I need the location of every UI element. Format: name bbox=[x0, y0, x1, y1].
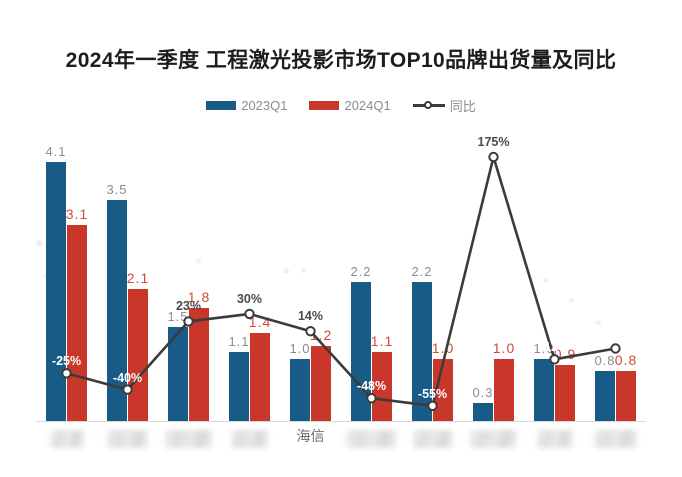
yoy-value-label: 30% bbox=[215, 292, 285, 306]
yoy-data-point[interactable] bbox=[550, 355, 558, 363]
chart-legend: 2023Q1 2024Q1 同比 bbox=[0, 96, 682, 115]
legend-item-yoy[interactable]: 同比 bbox=[413, 96, 476, 115]
x-axis-label bbox=[470, 430, 517, 448]
x-axis-label bbox=[165, 430, 213, 448]
x-axis-label bbox=[537, 430, 573, 448]
plot-area: 4.13.13.52.11.51.81.11.41.01.22.21.12.21… bbox=[36, 130, 646, 422]
yoy-data-point[interactable] bbox=[428, 402, 436, 410]
legend-label-2024q1: 2024Q1 bbox=[344, 98, 390, 113]
x-axis-line bbox=[36, 421, 646, 422]
yoy-data-point[interactable] bbox=[184, 317, 192, 325]
legend-line-circle-icon bbox=[413, 100, 445, 111]
yoy-value-label: -48% bbox=[337, 379, 407, 393]
x-axis-label bbox=[346, 430, 397, 448]
x-axis-label bbox=[413, 430, 453, 448]
chart-container: 2024年一季度 工程激光投影市场TOP10品牌出货量及同比 2023Q1 20… bbox=[0, 0, 682, 477]
yoy-value-label: -2% bbox=[581, 329, 651, 343]
yoy-value-label: -55% bbox=[398, 387, 468, 401]
legend-label-2023q1: 2023Q1 bbox=[241, 98, 287, 113]
yoy-value-label: -40% bbox=[93, 371, 163, 385]
yoy-data-point[interactable] bbox=[62, 369, 70, 377]
x-axis-label: 海信 bbox=[283, 426, 339, 446]
yoy-data-point[interactable] bbox=[367, 394, 375, 402]
yoy-data-point[interactable] bbox=[123, 385, 131, 393]
x-axis-label bbox=[107, 430, 148, 448]
x-axis-labels: 海信 bbox=[36, 426, 646, 462]
yoy-data-point[interactable] bbox=[611, 344, 619, 352]
yoy-value-label: 23% bbox=[154, 299, 224, 313]
yoy-data-point[interactable] bbox=[489, 153, 497, 161]
x-axis-label bbox=[231, 430, 268, 448]
yoy-value-label: 175% bbox=[459, 135, 529, 149]
x-axis-label bbox=[594, 430, 637, 448]
legend-item-2023q1[interactable]: 2023Q1 bbox=[206, 98, 287, 113]
yoy-data-point[interactable] bbox=[306, 327, 314, 335]
legend-swatch-red-icon bbox=[309, 101, 339, 110]
chart-title: 2024年一季度 工程激光投影市场TOP10品牌出货量及同比 bbox=[0, 44, 682, 74]
yoy-data-point[interactable] bbox=[245, 310, 253, 318]
yoy-value-label: 14% bbox=[276, 309, 346, 323]
yoy-value-label: -25% bbox=[32, 354, 102, 368]
x-axis-label bbox=[50, 430, 84, 448]
legend-item-2024q1[interactable]: 2024Q1 bbox=[309, 98, 390, 113]
legend-swatch-blue-icon bbox=[206, 101, 236, 110]
legend-label-yoy: 同比 bbox=[450, 96, 476, 115]
yoy-value-label: -12% bbox=[520, 340, 590, 354]
